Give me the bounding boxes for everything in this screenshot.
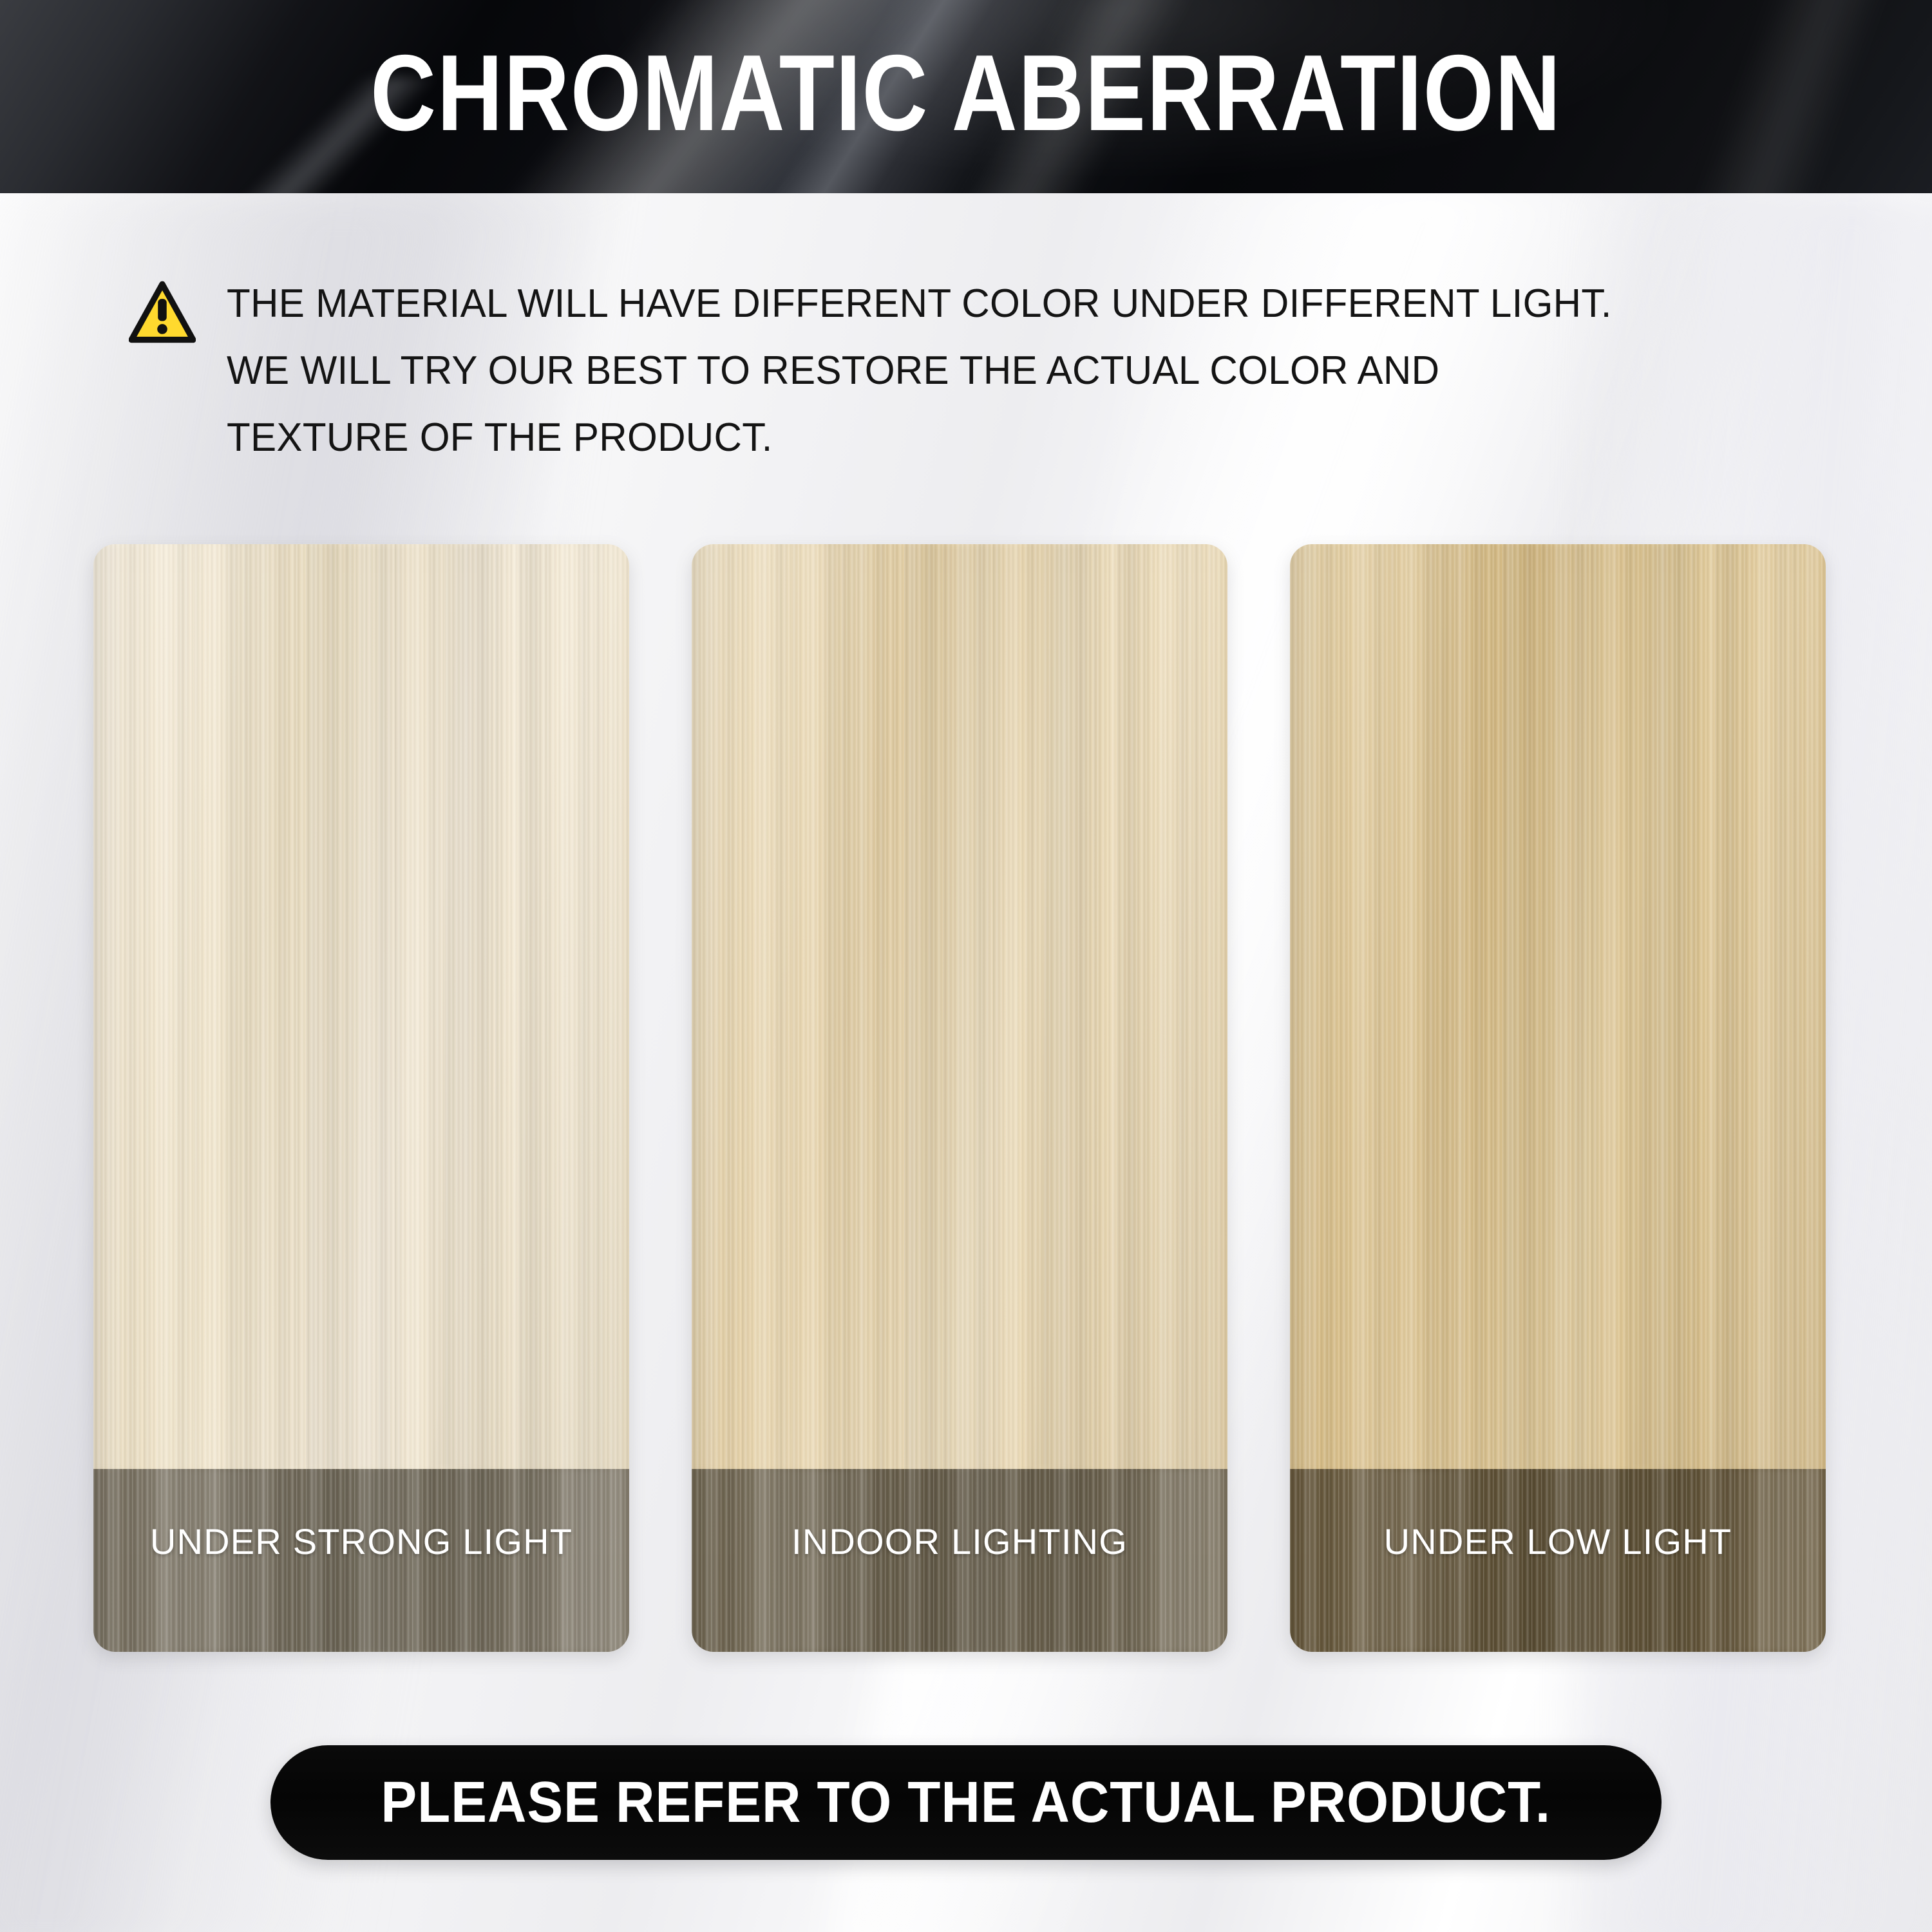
swatch-label-indoor-lighting: INDOOR LIGHTING <box>692 1469 1227 1652</box>
footer-text: PLEASE REFER TO THE ACTUAL PRODUCT. <box>381 1770 1551 1836</box>
swatch-card-strong-light[interactable]: UNDER STRONG LIGHT <box>93 544 629 1652</box>
swatch-row: UNDER STRONG LIGHT INDOOR LIGHTING <box>93 544 1826 1652</box>
notice-block: THE MATERIAL WILL HAVE DIFFERENT COLOR U… <box>129 270 1777 471</box>
wood-sample-low-light <box>1290 544 1826 1469</box>
chromatic-aberration-infographic: CHROMATIC ABERRATION THE MATERIAL WILL H… <box>0 0 1932 1932</box>
swatch-card-indoor-lighting[interactable]: INDOOR LIGHTING <box>692 544 1227 1652</box>
wood-sheen-overlay <box>692 544 1227 1469</box>
header-banner: CHROMATIC ABERRATION <box>0 0 1932 193</box>
wood-sheen-overlay <box>1290 544 1826 1469</box>
wood-sheen-overlay <box>93 544 629 1469</box>
swatch-card-low-light[interactable]: UNDER LOW LIGHT <box>1290 544 1826 1652</box>
notice-text: THE MATERIAL WILL HAVE DIFFERENT COLOR U… <box>227 270 1612 471</box>
notice-line-3: TEXTURE OF THE PRODUCT. <box>227 404 1612 471</box>
notice-line-2: WE WILL TRY OUR BEST TO RESTORE THE ACTU… <box>227 337 1612 404</box>
warning-triangle-icon <box>129 279 196 346</box>
notice-line-1: THE MATERIAL WILL HAVE DIFFERENT COLOR U… <box>227 270 1612 337</box>
swatch-label-strong-light: UNDER STRONG LIGHT <box>93 1469 629 1652</box>
footer-banner: PLEASE REFER TO THE ACTUAL PRODUCT. <box>270 1745 1662 1860</box>
wood-sample-indoor-lighting <box>692 544 1227 1469</box>
wood-sample-strong-light <box>93 544 629 1469</box>
page-title: CHROMATIC ABERRATION <box>155 9 1777 176</box>
swatch-label-low-light: UNDER LOW LIGHT <box>1290 1469 1826 1652</box>
